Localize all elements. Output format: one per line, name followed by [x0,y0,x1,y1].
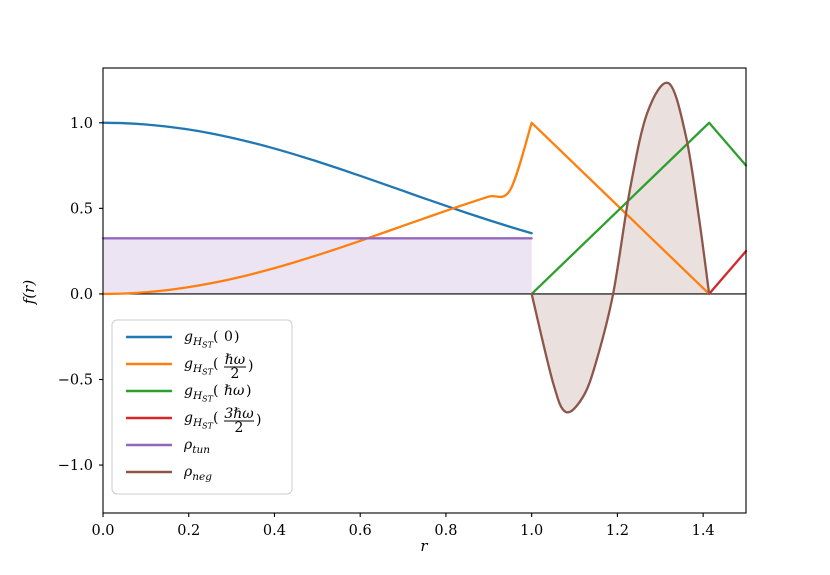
legend-arg: 0 [224,329,233,345]
legend-arg: ℏω [224,383,245,399]
legend-paren-close: ) [234,329,239,345]
y-axis-label: f(r) [20,280,38,306]
legend-arg-denominator: 2 [231,366,240,382]
legend-arg-denominator: 2 [235,420,244,436]
x-tick-label: 1.2 [606,523,629,539]
x-tick-label: 0.8 [434,523,457,539]
y-tick-label: 0.5 [70,201,93,217]
x-axis-label: r [420,537,428,555]
x-tick-label: 0.2 [177,523,200,539]
x-tick-label: 0.4 [263,523,286,539]
y-tick-label: 0.0 [70,287,93,303]
x-tick-label: 1.4 [692,523,715,539]
fill-rho_tun [103,238,532,294]
legend-paren-close: ) [248,358,253,374]
legend-paren-close: ) [246,383,251,399]
chart-legend[interactable]: gHST(0)gHST(ℏω2)gHST(ℏω)gHST(3ℏω2)ρtunρn… [112,320,292,494]
figure-canvas: 0.00.20.40.60.81.01.21.4 1.00.50.0−0.5−1… [0,0,830,575]
legend-paren-close: ) [256,412,261,428]
chart-svg: 0.00.20.40.60.81.01.21.4 1.00.50.0−0.5−1… [0,0,830,575]
y-tick-label: 1.0 [70,116,93,132]
x-tick-label: 1.0 [520,523,543,539]
x-tick-label: 0.0 [91,523,114,539]
x-tick-label: 0.6 [349,523,372,539]
y-tick-label: −0.5 [58,373,93,389]
y-tick-label: −1.0 [58,458,93,474]
